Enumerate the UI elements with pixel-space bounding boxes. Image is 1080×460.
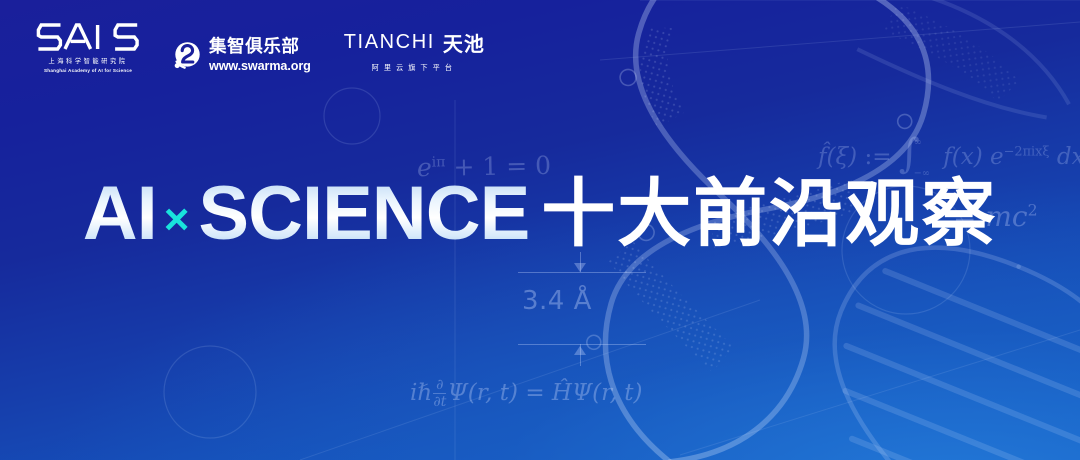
formula-schrodinger-equation: iℏ∂∂tΨ(r, t) = ĤΨ(r, t)	[410, 378, 642, 410]
partner-logo-row: 上海科学智能研究院 Shanghai Academy of AI for Sci…	[36, 22, 485, 73]
sais-english-label: Shanghai Academy of AI for Science	[44, 68, 132, 73]
banner-title: AI × SCIENCE 十大前沿观察	[0, 176, 1080, 252]
tianchi-chinese-label: 天池	[443, 28, 485, 57]
dna-spacing-annotation: 3.4 Å	[518, 260, 648, 360]
tianchi-title-row: TIANCHI 天池	[344, 28, 485, 57]
sais-chinese-label: 上海科学智能研究院	[48, 56, 127, 65]
title-science: SCIENCE	[198, 176, 529, 252]
tianchi-subtitle-label: 阿里云旗下平台	[372, 63, 457, 73]
swarma-text-block: 集智俱乐部 www.swarma.org	[209, 38, 311, 72]
logo-tianchi[interactable]: TIANCHI 天池 阿里云旗下平台	[327, 28, 485, 73]
sais-wordmark-icon	[36, 22, 140, 52]
logo-sais[interactable]: 上海科学智能研究院 Shanghai Academy of AI for Sci…	[36, 22, 157, 73]
logo-swarma[interactable]: 集智俱乐部 www.swarma.org	[157, 38, 327, 72]
dimension-stem-bottom	[580, 344, 581, 366]
ai-science-banner: eiπ + 1 = 0 f̂(ξ) := ∫∞−∞ f(x) e−2πixξ d…	[0, 0, 1080, 460]
title-multiply-icon: ×	[164, 195, 190, 245]
tianchi-english-label: TIANCHI	[344, 31, 435, 54]
swarma-spiral-icon	[173, 41, 202, 70]
swarma-url-label: www.swarma.org	[209, 59, 311, 73]
swarma-chinese-label: 集智俱乐部	[209, 38, 311, 56]
title-chinese: 十大前沿观察	[541, 177, 997, 251]
title-ai: AI	[83, 176, 157, 252]
dna-spacing-label: 3.4 Å	[522, 286, 592, 316]
dimension-rule-bottom	[518, 344, 646, 345]
dimension-arrow-top	[574, 263, 586, 272]
dimension-rule-top	[518, 272, 646, 273]
